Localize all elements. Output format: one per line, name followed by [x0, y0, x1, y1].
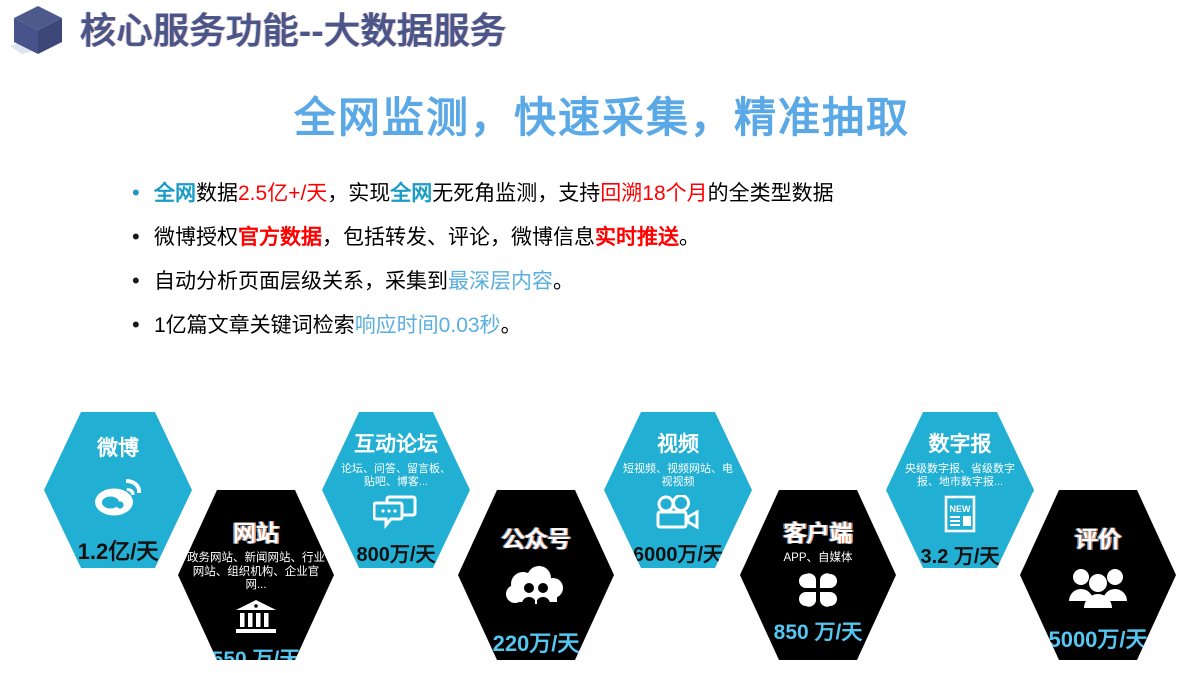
bullet-marker: • — [128, 312, 154, 338]
hexagon-forum[interactable]: 互动论坛 论坛、问答、留言板、贴吧、博客... 800万/天 — [322, 412, 470, 568]
hexagon-subtitle: APP、自媒体 — [740, 552, 896, 566]
hexagon-value: 3.2 万/天 — [886, 540, 1034, 569]
bullet-marker: • — [128, 224, 154, 250]
bullet-segment: 全网 — [154, 182, 196, 205]
svg-text:NEW: NEW — [950, 504, 972, 514]
apps-grid-icon — [740, 572, 896, 608]
hexagon-title: 网站 — [178, 514, 334, 548]
bullet-segment: 数据 — [196, 182, 238, 205]
hexagon-value: 800万/天 — [322, 538, 470, 567]
hexagon-value: 1.2亿/天 — [44, 534, 192, 566]
wechat-cloud-icon — [458, 566, 614, 614]
bank-icon — [178, 599, 334, 635]
headline: 全网监测，快速采集，精准抽取 — [0, 84, 1204, 145]
bullet-segment: 自动分析页面层级关系，采集到 — [154, 270, 448, 293]
bullet-segment: 2.5亿+/天 — [238, 182, 327, 205]
hexagon-title: 公众号 — [458, 520, 614, 554]
hexagon-title: 微博 — [44, 432, 192, 462]
hexagon-value: 5000万/天 — [1020, 622, 1176, 654]
hexagon-title: 评价 — [1020, 520, 1176, 554]
weibo-icon — [44, 474, 192, 518]
bullet-list: •全网数据2.5亿+/天，实现全网无死角监测，支持回溯18个月的全类型数据•微博… — [128, 180, 1088, 356]
hexagon-subtitle: 短视频、视频网站、电视视频 — [604, 463, 752, 489]
bullet-segment: 官方数据 — [238, 226, 322, 249]
hexagon-weibo[interactable]: 微博 1.2亿/天 — [44, 412, 192, 568]
bullet-segment: 响应时间0.03秒 — [355, 314, 501, 337]
bullet-segment: 微博授权 — [154, 226, 238, 249]
bullet-segment: ，包括转发、评论，微博信息 — [322, 226, 595, 249]
people-group-icon — [1020, 566, 1176, 610]
bullet-segment: 1亿篇文章关键词检索 — [154, 314, 355, 337]
hexagon-review[interactable]: 评价 5000万/天 — [1020, 490, 1176, 660]
bullet-segment: 实时推送 — [595, 226, 679, 249]
hexagon-website[interactable]: 网站 政务网站、新闻网站、行业网站、组织机构、企业官网... 550 万/天 — [178, 490, 334, 660]
bullet-item: •全网数据2.5亿+/天，实现全网无死角监测，支持回溯18个月的全类型数据 — [128, 180, 1088, 210]
video-camera-icon — [604, 495, 752, 531]
bullet-marker: • — [128, 268, 154, 294]
bullet-segment: 。 — [679, 226, 700, 249]
bullet-segment: 回溯18个月 — [600, 182, 707, 205]
bullet-item: •1亿篇文章关键词检索响应时间0.03秒。 — [128, 312, 1088, 342]
bullet-segment: 无死角监测，支持 — [432, 182, 600, 205]
hexagon-digital-newspaper[interactable]: 数字报 央级数字报、省级数字报、地市数字报... NEW 3.2 万/天 — [886, 412, 1034, 568]
hexagon-title: 客户端 — [740, 514, 896, 548]
bullet-segment: 最深层内容 — [448, 270, 553, 293]
hexagon-title: 数字报 — [886, 428, 1034, 458]
bullet-text: 1亿篇文章关键词检索响应时间0.03秒。 — [154, 312, 522, 340]
bullet-marker: • — [128, 180, 154, 206]
hexagon-official-account[interactable]: 公众号 220万/天 — [458, 490, 614, 660]
hexagon-subtitle: 政务网站、新闻网站、行业网站、组织机构、企业官网... — [178, 552, 334, 593]
bullet-segment: 的全类型数据 — [708, 182, 834, 205]
bullet-text: 全网数据2.5亿+/天，实现全网无死角监测，支持回溯18个月的全类型数据 — [154, 180, 834, 208]
hexagon-value: 850 万/天 — [740, 616, 896, 646]
bullet-text: 微博授权官方数据，包括转发、评论，微博信息实时推送。 — [154, 224, 700, 252]
hexagon-client[interactable]: 客户端 APP、自媒体 850 万/天 — [740, 490, 896, 660]
newspaper-icon: NEW — [886, 495, 1034, 533]
bullet-item: •微博授权官方数据，包括转发、评论，微博信息实时推送。 — [128, 224, 1088, 254]
cube-icon — [8, 2, 72, 60]
bullet-segment: ，实现 — [327, 182, 390, 205]
bullet-segment: 全网 — [390, 182, 432, 205]
hexagon-subtitle: 央级数字报、省级数字报、地市数字报... — [886, 463, 1034, 489]
hexagon-title: 视频 — [604, 428, 752, 458]
chat-icon — [322, 495, 470, 531]
hexagon-value: 6000万/天 — [604, 538, 752, 567]
bullet-segment: 。 — [553, 270, 574, 293]
bullet-segment: 。 — [501, 314, 522, 337]
hexagon-value: 220万/天 — [458, 626, 614, 658]
hexagon-subtitle: 论坛、问答、留言板、贴吧、博客... — [322, 463, 470, 489]
page-title: 核心服务功能--大数据服务 — [80, 2, 506, 54]
hexagon-title: 互动论坛 — [322, 428, 470, 458]
hexagon-video[interactable]: 视频 短视频、视频网站、电视视频 6000万/天 — [604, 412, 752, 568]
hexagon-row: 微博 1.2亿/天 网站 政务网站、新闻网站、行业网站、组织机构、企业官网... — [0, 400, 1204, 658]
bullet-text: 自动分析页面层级关系，采集到最深层内容。 — [154, 268, 574, 296]
bullet-item: •自动分析页面层级关系，采集到最深层内容。 — [128, 268, 1088, 298]
slide-header: 核心服务功能--大数据服务 — [0, 0, 1204, 62]
